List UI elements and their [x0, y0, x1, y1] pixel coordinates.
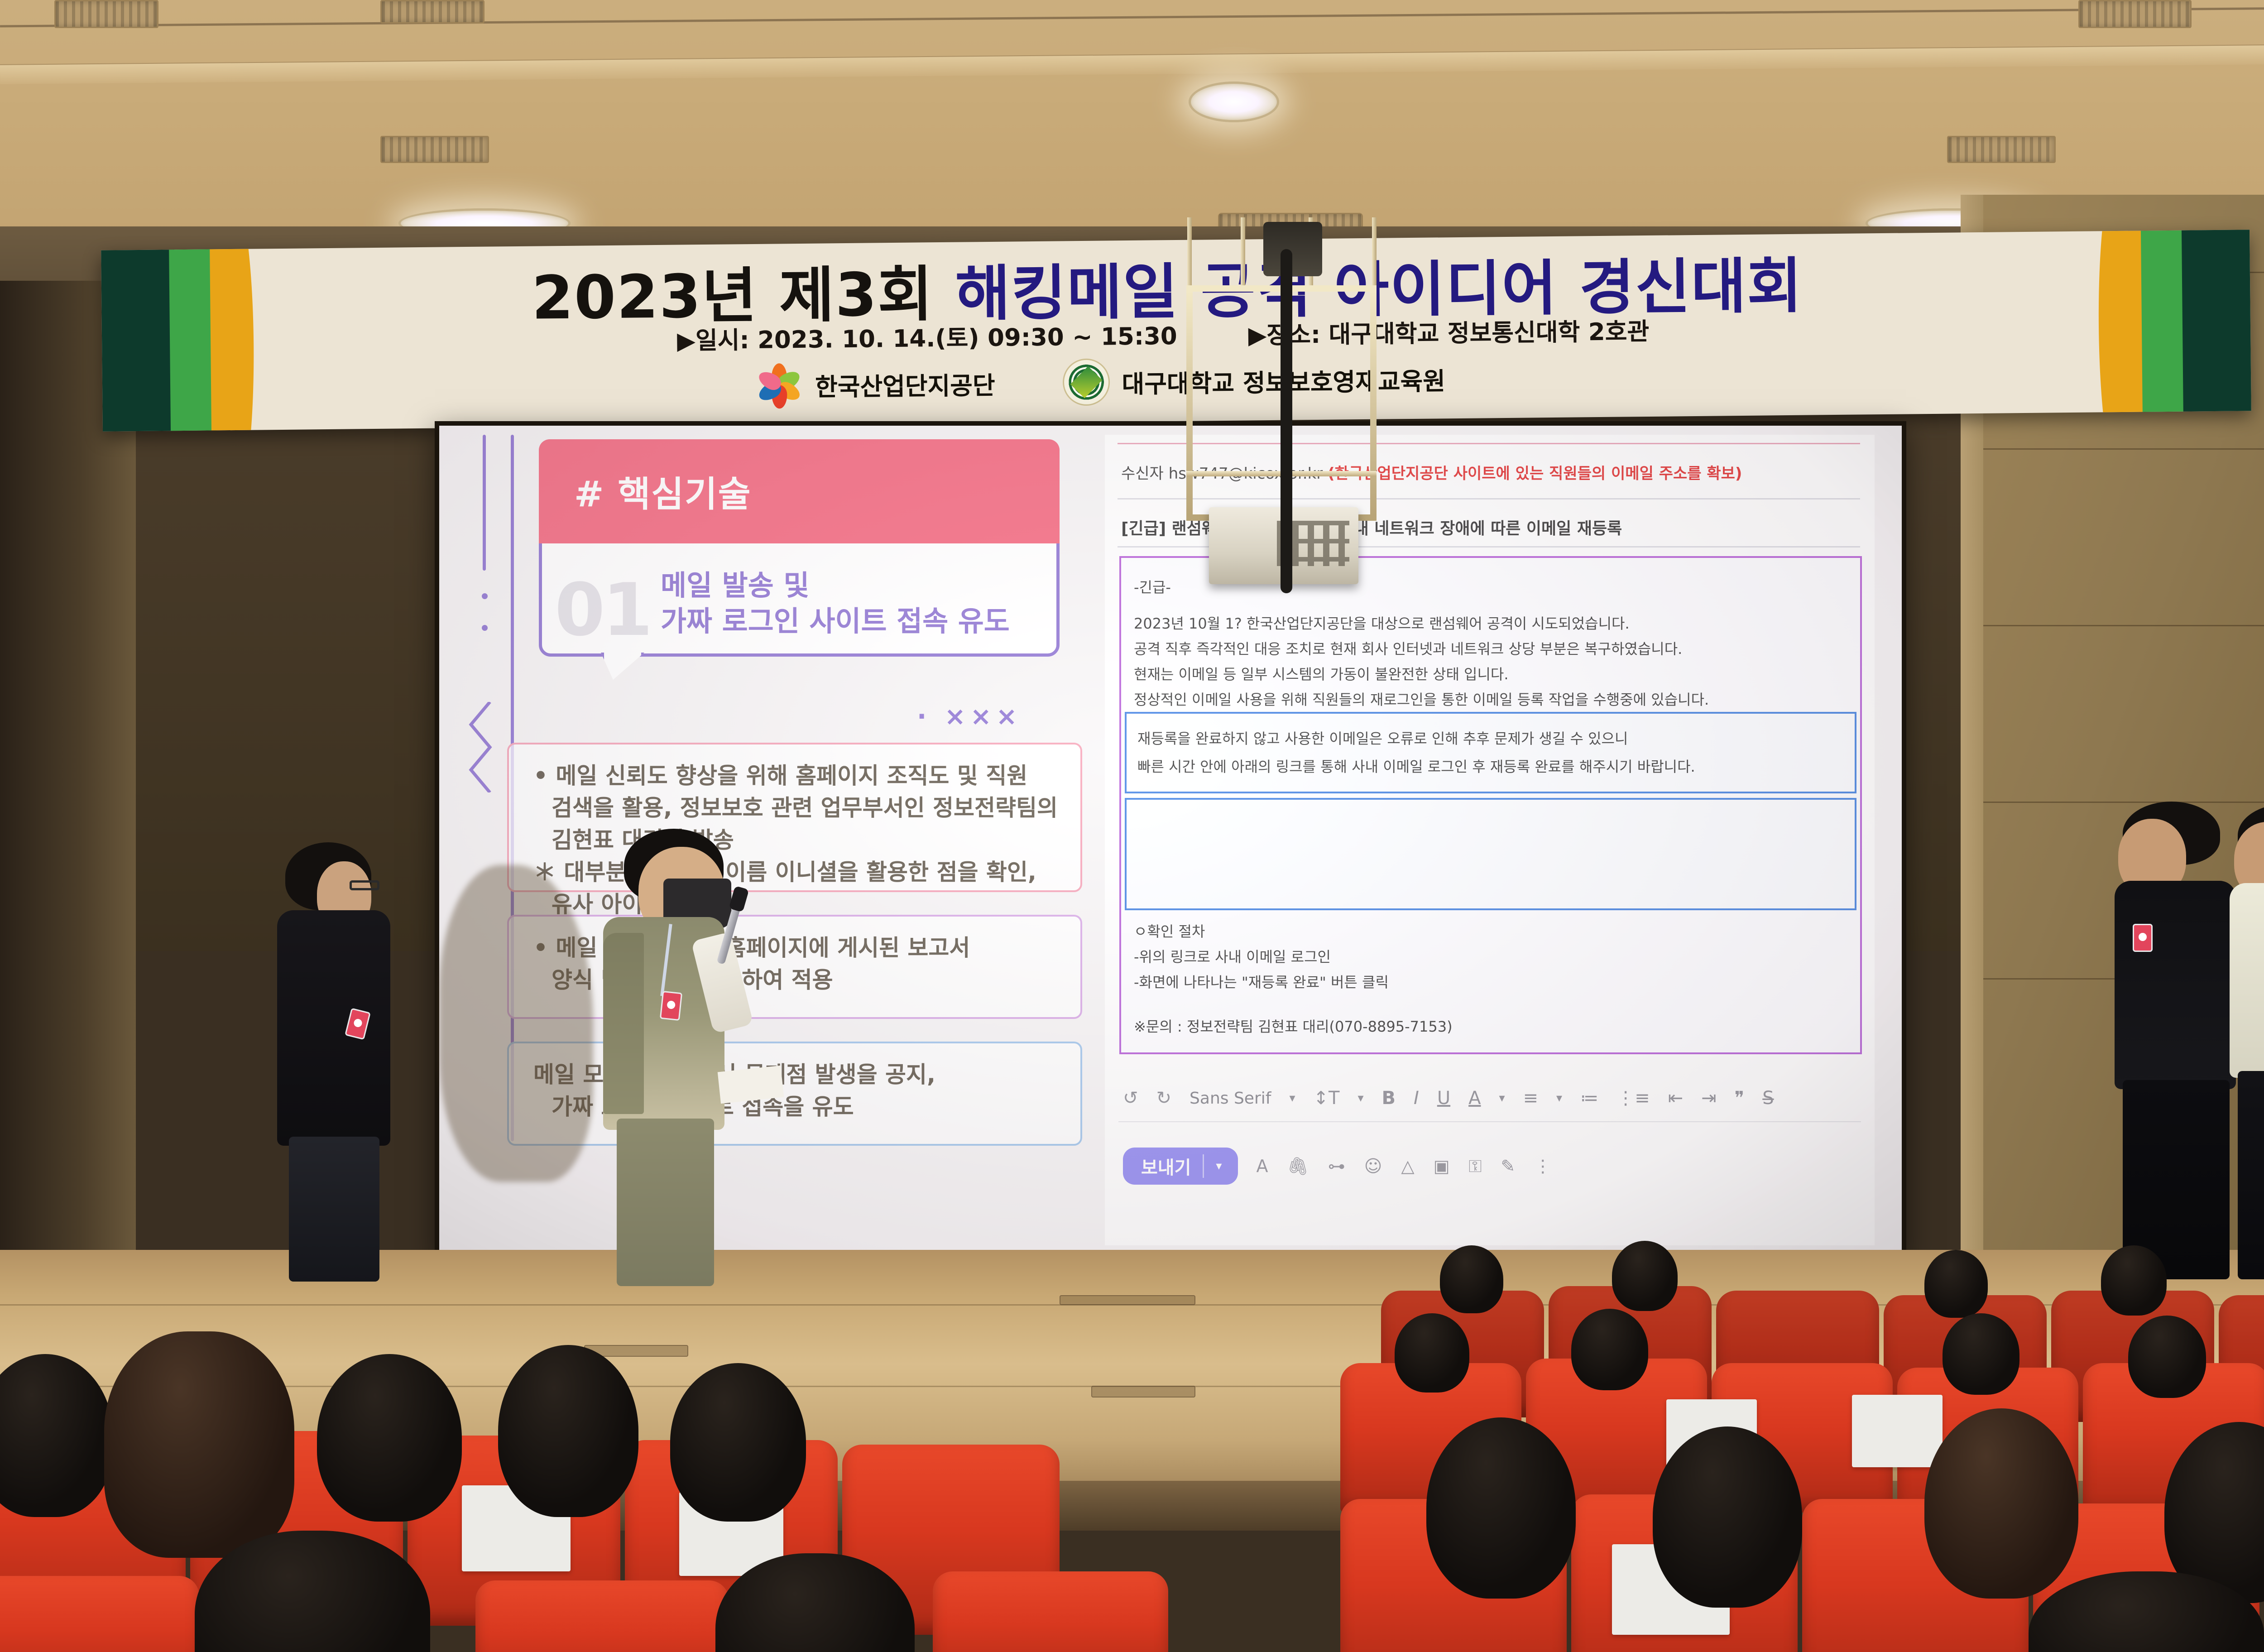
- font-size-icon[interactable]: ↕T: [1314, 1088, 1340, 1109]
- person-presenter: [575, 829, 756, 1282]
- audience-head: [317, 1354, 462, 1522]
- paper-sheet: [718, 1066, 784, 1104]
- mail-highlight-box-1: 재등록을 완료하지 않고 사용한 이메일은 오류로 인해 추후 문제가 생길 수…: [1125, 712, 1856, 793]
- seat: [933, 1571, 1168, 1652]
- ordered-list-icon[interactable]: ≔: [1580, 1088, 1598, 1109]
- mail-contact: ※문의 : 정보전략팀 김현표 대리(070-8895-7153): [1134, 1015, 1453, 1036]
- strikethrough-icon[interactable]: S̶: [1762, 1088, 1774, 1109]
- bullet-list-icon[interactable]: ⋮≡: [1616, 1088, 1650, 1109]
- chevron-down-icon[interactable]: ▾: [1357, 1091, 1363, 1105]
- mail-body-line-4: 현재는 이메일 등 일부 시스템의 가동이 불완전한 상태 입니다.: [1134, 663, 1509, 684]
- banner-swoosh-left: [101, 230, 275, 432]
- chevron-down-icon[interactable]: ▾: [1556, 1091, 1562, 1105]
- audience-head: [1395, 1313, 1469, 1393]
- outdent-icon[interactable]: ⇤: [1668, 1088, 1684, 1109]
- format-text-icon[interactable]: A: [1256, 1156, 1268, 1176]
- quote-icon[interactable]: ❞: [1735, 1088, 1745, 1109]
- torso: [277, 910, 390, 1146]
- legs: [617, 1119, 714, 1286]
- audience-head: [498, 1345, 638, 1517]
- audience-head: [1426, 1417, 1576, 1599]
- ceiling-projector-rig: [1159, 217, 1413, 648]
- projector-mount: [1263, 222, 1322, 276]
- step-number: 01: [555, 567, 650, 652]
- core-tech-heading-line2: 가짜 로그인 사이트 접속 유도: [661, 603, 1010, 639]
- ceiling-vent: [380, 136, 489, 163]
- ceiling-vent: [2078, 0, 2192, 28]
- ceiling: [0, 0, 2264, 235]
- italic-icon[interactable]: I: [1414, 1088, 1419, 1109]
- emoji-icon[interactable]: ☺: [1364, 1156, 1382, 1176]
- undo-icon[interactable]: ↺: [1123, 1088, 1138, 1109]
- auditorium-room: 2023년 제3회 해킹메일 공격 아이디어 경신대회 ▶일시: 2023. 1…: [0, 0, 2264, 1652]
- insert-link-icon[interactable]: ⊶: [1328, 1156, 1345, 1176]
- name-badge: [2133, 924, 2153, 952]
- audience-head: [1440, 1245, 1503, 1313]
- toolbar-divider: [1118, 1121, 1861, 1122]
- decor-zigzag-icon: [467, 702, 494, 792]
- mail-procedure-heading: ㅇ확인 절차: [1134, 920, 1205, 941]
- legs: [289, 1137, 379, 1282]
- name-badge: [660, 991, 682, 1021]
- core-tech-heading-line1: 메일 발송 및: [661, 567, 1010, 603]
- core-tech-tag-label: # 핵심기술: [574, 466, 752, 517]
- mail-highlight-1-line-1: 재등록을 완료하지 않고 사용한 이메일은 오류로 인해 추후 문제가 생길 수…: [1137, 727, 1628, 748]
- chevron-down-icon[interactable]: ▾: [1216, 1159, 1233, 1173]
- ceiling-band: [0, 43, 2264, 84]
- redo-icon[interactable]: ↻: [1156, 1088, 1172, 1109]
- ceiling-seam: [0, 6, 2264, 28]
- audience-head: [104, 1331, 294, 1558]
- audience-head: [670, 1363, 806, 1522]
- mail-highlight-box-2: [1125, 798, 1856, 910]
- mail-procedure-line-1: -위의 링크로 사내 이메일 로그인: [1134, 946, 1331, 966]
- insert-photo-icon[interactable]: ▣: [1434, 1156, 1450, 1176]
- projector-cable: [1281, 249, 1292, 593]
- banner-organizations: 한국산업단지공단 대구대학교 정보보호영재교육원: [754, 347, 2204, 410]
- org-kicox: 한국산업단지공단: [754, 359, 995, 410]
- mail-procedure-line-2: -화면에 나타나는 "재등록 완료" 버튼 클릭: [1134, 971, 1389, 992]
- person-student-left: [267, 842, 412, 1277]
- font-family-select[interactable]: Sans Serif: [1190, 1089, 1271, 1108]
- seat: [475, 1580, 729, 1652]
- chevron-down-icon[interactable]: ▾: [1289, 1091, 1295, 1105]
- compose-action-bar: 보내기 ▾ A 🖇 ⊶ ☺ △ ▣ ⚿ ✎ ⋮: [1123, 1141, 1856, 1191]
- pinwheel-logo-icon: [754, 360, 804, 410]
- banner-date: ▶일시: 2023. 10. 14.(토) 09:30 ~ 15:30: [677, 322, 1177, 355]
- seat-card: [1852, 1395, 1943, 1467]
- audience-head: [1571, 1309, 1648, 1390]
- audience-area: [0, 1381, 2264, 1652]
- text-color-icon[interactable]: A: [1468, 1088, 1481, 1109]
- google-drive-icon[interactable]: △: [1401, 1156, 1414, 1176]
- send-button[interactable]: 보내기 ▾: [1123, 1148, 1238, 1185]
- ceiling-vent: [380, 0, 484, 24]
- mail-highlight-1-line-2: 빠른 시간 안에 아래의 링크를 통해 사내 이메일 로그인 후 재등록 완료를…: [1137, 755, 1695, 776]
- audience-head: [1943, 1313, 2019, 1395]
- confidential-mode-icon[interactable]: ⚿: [1468, 1156, 1482, 1177]
- audience-head: [2128, 1316, 2206, 1398]
- mail-body-line-5: 정상적인 이메일 사용을 위해 직원들의 재로그인을 통한 이메일 등록 작업을…: [1134, 688, 1709, 709]
- chevron-down-icon[interactable]: ▾: [1499, 1091, 1505, 1105]
- underline-icon[interactable]: U: [1437, 1088, 1450, 1109]
- wall-shadow: [439, 865, 593, 1182]
- align-icon[interactable]: ≡: [1523, 1088, 1539, 1109]
- compose-format-toolbar[interactable]: ↺ ↻ Sans Serif ▾ ↕T ▾ B I U A ▾ ≡ ▾ ≔ ⋮≡…: [1123, 1078, 1856, 1119]
- torso: [2230, 883, 2264, 1078]
- compose-action-icons: A 🖇 ⊶ ☺ △ ▣ ⚿ ✎ ⋮: [1256, 1156, 1551, 1177]
- core-tech-bubble: # 핵심기술 메일 발송 및 가짜 로그인 사이트 접속 유도 01: [539, 439, 1060, 657]
- ceiling-vent: [1947, 136, 2056, 163]
- bubble-tail: [601, 653, 644, 680]
- mail-to-label: 수신자: [1121, 465, 1164, 483]
- daegu-university-emblem-icon: [1063, 358, 1110, 406]
- audience-head: [1612, 1241, 1678, 1311]
- signature-icon[interactable]: ✎: [1501, 1156, 1515, 1176]
- glasses-icon: [350, 880, 379, 890]
- torso: [2115, 881, 2236, 1089]
- more-options-icon[interactable]: ⋮: [1534, 1156, 1551, 1176]
- bold-icon[interactable]: B: [1382, 1088, 1396, 1109]
- ceiling-vent: [54, 0, 158, 28]
- attach-file-icon[interactable]: 🖇: [1287, 1156, 1309, 1177]
- decor-dot: [482, 593, 488, 599]
- decor-x-marks: · ×××: [917, 702, 1022, 731]
- vest: [603, 933, 644, 1114]
- ceiling-light: [1189, 82, 1279, 122]
- indent-icon[interactable]: ⇥: [1701, 1088, 1717, 1109]
- audience-head: [1924, 1408, 2078, 1599]
- person-student-right-white: [2219, 804, 2264, 1279]
- decor-bar: [483, 435, 486, 571]
- floor-vent: [1060, 1295, 1195, 1305]
- decor-dot: [482, 625, 488, 631]
- callout-1-line-2: 검색을 활용, 정보보호 관련 업무부서인 정보전략팀의: [533, 792, 1060, 824]
- audience-head: [1924, 1250, 1988, 1318]
- seat: [0, 1576, 199, 1652]
- org-name-kicox: 한국산업단지공단: [815, 365, 995, 403]
- legs: [2238, 1071, 2264, 1279]
- send-button-label: 보내기: [1141, 1153, 1191, 1179]
- audience-head: [1653, 1426, 1802, 1608]
- callout-1-line-1: • 메일 신뢰도 향상을 위해 홈페이지 조직도 및 직원: [533, 760, 1060, 792]
- core-tech-tag: # 핵심기술: [539, 439, 1060, 543]
- audience-head: [2101, 1245, 2167, 1316]
